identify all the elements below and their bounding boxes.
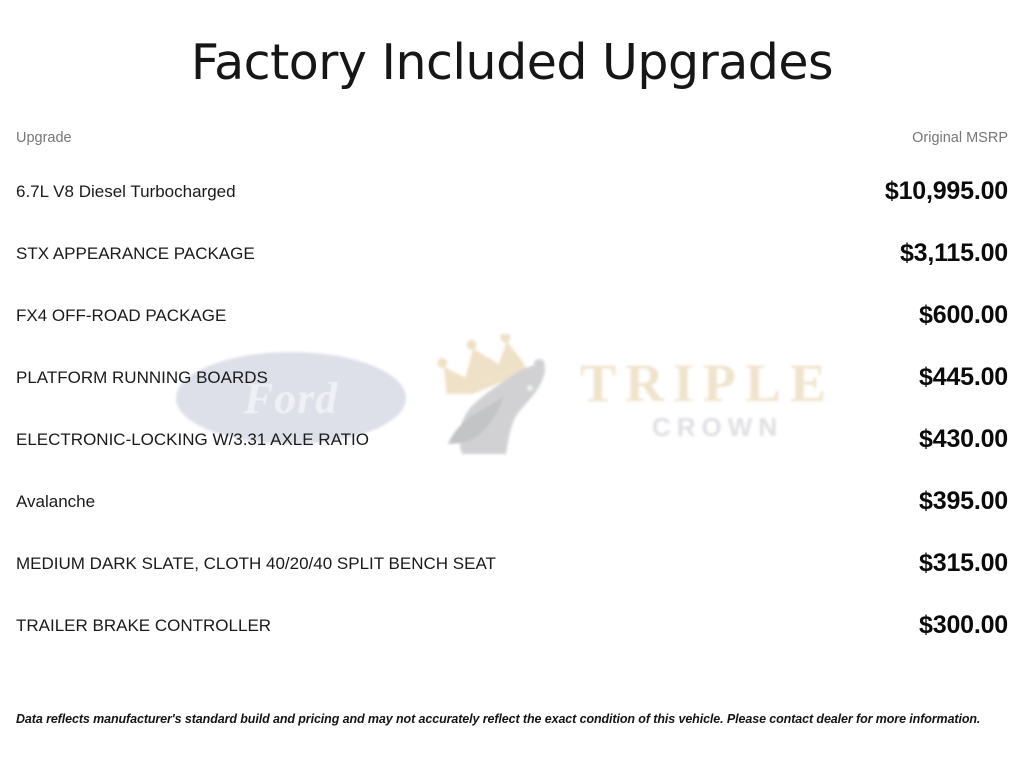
column-header-upgrade: Upgrade <box>16 130 716 160</box>
upgrade-name: FX4 OFF-ROAD PACKAGE <box>16 284 716 346</box>
disclaimer-text: Data reflects manufacturer's standard bu… <box>16 711 1008 727</box>
upgrade-price: $300.00 <box>716 594 1008 656</box>
upgrade-price: $395.00 <box>716 470 1008 532</box>
upgrade-price: $3,115.00 <box>716 222 1008 284</box>
upgrade-name: TRAILER BRAKE CONTROLLER <box>16 594 716 656</box>
table-row: Avalanche $395.00 <box>16 470 1008 532</box>
upgrade-name: MEDIUM DARK SLATE, CLOTH 40/20/40 SPLIT … <box>16 532 716 594</box>
column-header-original-msrp: Original MSRP <box>716 130 1008 160</box>
table-row: MEDIUM DARK SLATE, CLOTH 40/20/40 SPLIT … <box>16 532 1008 594</box>
upgrade-name: ELECTRONIC-LOCKING W/3.31 AXLE RATIO <box>16 408 716 470</box>
upgrade-price: $600.00 <box>716 284 1008 346</box>
table-row: STX APPEARANCE PACKAGE $3,115.00 <box>16 222 1008 284</box>
upgrade-price: $430.00 <box>716 408 1008 470</box>
table-header: Upgrade Original MSRP <box>16 130 1008 160</box>
factory-upgrades-table: Upgrade Original MSRP 6.7L V8 Diesel Tur… <box>16 130 1008 656</box>
table-row: ELECTRONIC-LOCKING W/3.31 AXLE RATIO $43… <box>16 408 1008 470</box>
table-row: FX4 OFF-ROAD PACKAGE $600.00 <box>16 284 1008 346</box>
table-row: PLATFORM RUNNING BOARDS $445.00 <box>16 346 1008 408</box>
table-row: 6.7L V8 Diesel Turbocharged $10,995.00 <box>16 160 1008 222</box>
upgrade-name: PLATFORM RUNNING BOARDS <box>16 346 716 408</box>
table-row: TRAILER BRAKE CONTROLLER $300.00 <box>16 594 1008 656</box>
page-content: Factory Included Upgrades Upgrade Origin… <box>0 0 1024 768</box>
upgrade-name: Avalanche <box>16 470 716 532</box>
upgrade-price: $10,995.00 <box>716 160 1008 222</box>
table-header-row: Upgrade Original MSRP <box>16 130 1008 160</box>
upgrade-name: 6.7L V8 Diesel Turbocharged <box>16 160 716 222</box>
upgrade-name: STX APPEARANCE PACKAGE <box>16 222 716 284</box>
table-body: 6.7L V8 Diesel Turbocharged $10,995.00 S… <box>16 160 1008 656</box>
upgrade-price: $445.00 <box>716 346 1008 408</box>
upgrade-price: $315.00 <box>716 532 1008 594</box>
page-title: Factory Included Upgrades <box>16 0 1008 92</box>
